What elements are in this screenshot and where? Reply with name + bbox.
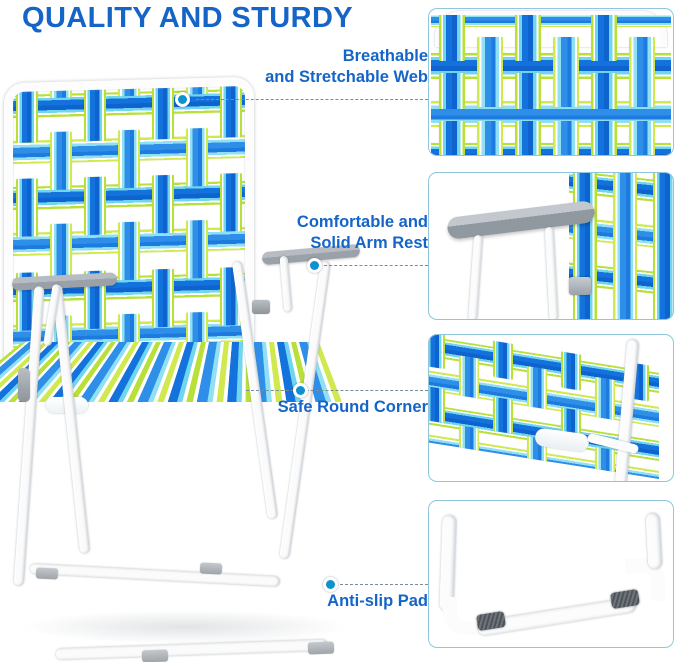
callout-line-2: and Stretchable Web bbox=[180, 67, 428, 88]
leader-line-arm-rest bbox=[314, 265, 428, 266]
hinge-bracket-detail bbox=[569, 277, 591, 295]
callout-label-round-corner: Safe Round Corner bbox=[180, 397, 428, 418]
anti-slip-pad-rear-left bbox=[36, 567, 59, 579]
callout-line-1: Anti-slip Pad bbox=[180, 591, 428, 612]
callout-dot-anti-slip-pad bbox=[323, 577, 338, 592]
callout-label-arm-rest: Comfortable and Solid Arm Rest bbox=[180, 212, 428, 254]
page-title: QUALITY AND STURDY bbox=[22, 2, 353, 35]
callout-line-1: Breathable bbox=[180, 46, 428, 67]
frame-base-rail-rear bbox=[30, 563, 280, 586]
leader-line-round-corner bbox=[246, 390, 428, 391]
detail-panel-round-corner bbox=[428, 334, 674, 482]
detail-panel-anti-slip-pad bbox=[428, 500, 674, 648]
anti-slip-pad-front-left bbox=[142, 650, 168, 662]
callout-label-breathable-web: Breathable and Stretchable Web bbox=[180, 46, 428, 88]
leader-line-anti-slip-pad bbox=[330, 584, 428, 585]
arm-support-leg-left bbox=[468, 235, 483, 319]
base-tube-right bbox=[646, 513, 663, 570]
anti-slip-pad-front-right bbox=[308, 642, 334, 655]
arm-support-right bbox=[280, 256, 293, 312]
callout-line-2: Solid Arm Rest bbox=[180, 233, 428, 254]
leader-line-breathable-web bbox=[196, 99, 428, 100]
anti-slip-pad-rear-right bbox=[200, 562, 223, 574]
callout-dot-breathable-web bbox=[175, 92, 190, 107]
arm-support-leg-right bbox=[545, 227, 559, 319]
infographic-canvas: QUALITY AND STURDY bbox=[0, 0, 679, 657]
callout-line-1: Safe Round Corner bbox=[180, 397, 428, 418]
detail-panel-arm-rest bbox=[428, 172, 674, 320]
main-product-image bbox=[0, 70, 400, 650]
callout-dot-round-corner bbox=[293, 383, 308, 398]
callout-line-1: Comfortable and bbox=[180, 212, 428, 233]
hinge-left bbox=[18, 368, 30, 402]
chair-shadow bbox=[20, 610, 350, 644]
callout-dot-arm-rest bbox=[307, 258, 322, 273]
hinge-right bbox=[252, 300, 270, 314]
callout-label-anti-slip-pad: Anti-slip Pad bbox=[180, 591, 428, 612]
detail-panel-breathable-web bbox=[428, 8, 674, 156]
